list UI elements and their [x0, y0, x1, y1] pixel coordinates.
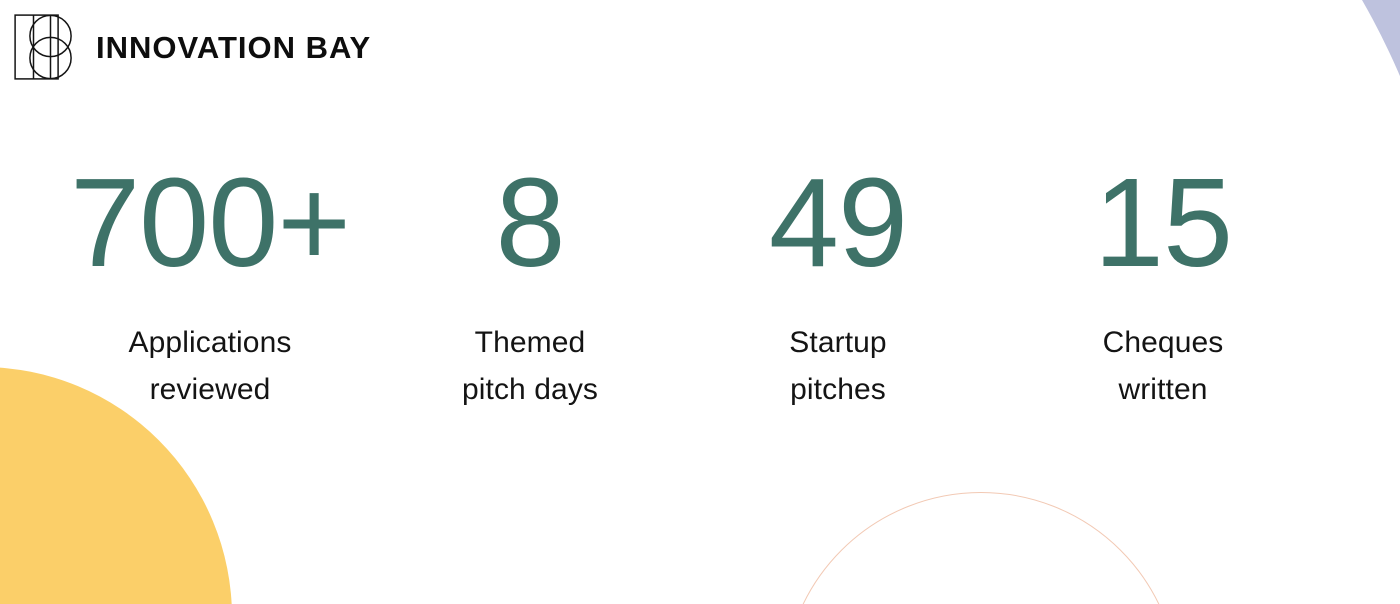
stat-applications-reviewed: 700+ Applications reviewed — [0, 160, 420, 413]
stat-value: 8 — [495, 160, 564, 286]
stats-band: 700+ Applications reviewed 8 Themed pitc… — [0, 160, 1290, 413]
stat-label: Applications reviewed — [129, 320, 292, 413]
innovation-bay-monogram-icon — [14, 14, 76, 80]
stat-label: Startup pitches — [789, 320, 886, 413]
stat-themed-pitch-days: 8 Themed pitch days — [420, 160, 640, 413]
brand-logo-lockup: INNOVATION BAY — [14, 14, 371, 80]
stat-label: Cheques written — [1103, 320, 1224, 413]
stat-value: 15 — [1094, 160, 1232, 286]
stat-value: 49 — [769, 160, 907, 286]
salmon-ring-decoration — [783, 492, 1179, 604]
brand-name: INNOVATION BAY — [96, 32, 371, 63]
stat-value: 700+ — [70, 160, 350, 286]
slide-canvas: INNOVATION BAY 700+ Applications reviewe… — [0, 0, 1400, 604]
stat-label: Themed pitch days — [462, 320, 598, 413]
stat-startup-pitches: 49 Startup pitches — [640, 160, 1036, 413]
stat-cheques-written: 15 Cheques written — [1036, 160, 1290, 413]
